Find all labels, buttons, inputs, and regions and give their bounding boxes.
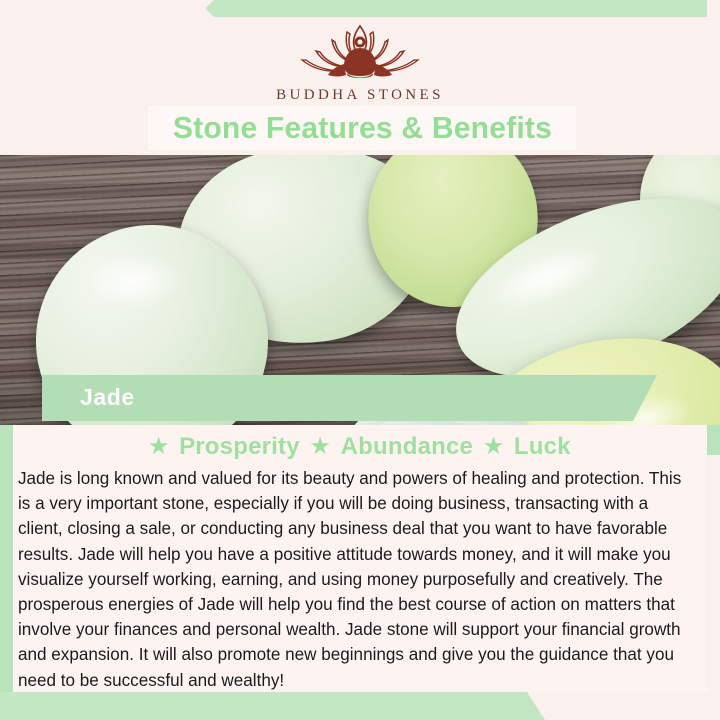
poster-root: Jade (0, 0, 720, 720)
description-text: Jade is long known and valued for its be… (13, 465, 704, 693)
benefit-item-abundance: Abundance (341, 433, 473, 461)
page-title: Stone Features & Benefits (172, 110, 551, 146)
stone-highlight (87, 253, 184, 309)
top-green-band (196, 0, 720, 17)
benefit-item-prosperity: Prosperity (179, 433, 300, 461)
star-icon: ★ (484, 436, 503, 457)
brand-logo: BUDDHA STONES (0, 18, 720, 104)
brand-name: BUDDHA STONES (276, 87, 444, 104)
header: BUDDHA STONES Stone Features & Benefits (0, 0, 720, 155)
bottom-green-band (0, 692, 545, 720)
lotus-meditation-icon (295, 18, 425, 86)
description-panel: ★ Prosperity ★ Abundance ★ Luck Jade is … (13, 425, 707, 692)
benefits-list: ★ Prosperity ★ Abundance ★ Luck (13, 425, 707, 465)
star-icon: ★ (149, 436, 168, 457)
benefit-item-luck: Luck (514, 433, 571, 461)
photo-caption-label: Jade (80, 384, 135, 411)
left-green-band (0, 392, 13, 720)
title-plate: Stone Features & Benefits (148, 106, 576, 150)
star-icon: ★ (311, 436, 330, 457)
